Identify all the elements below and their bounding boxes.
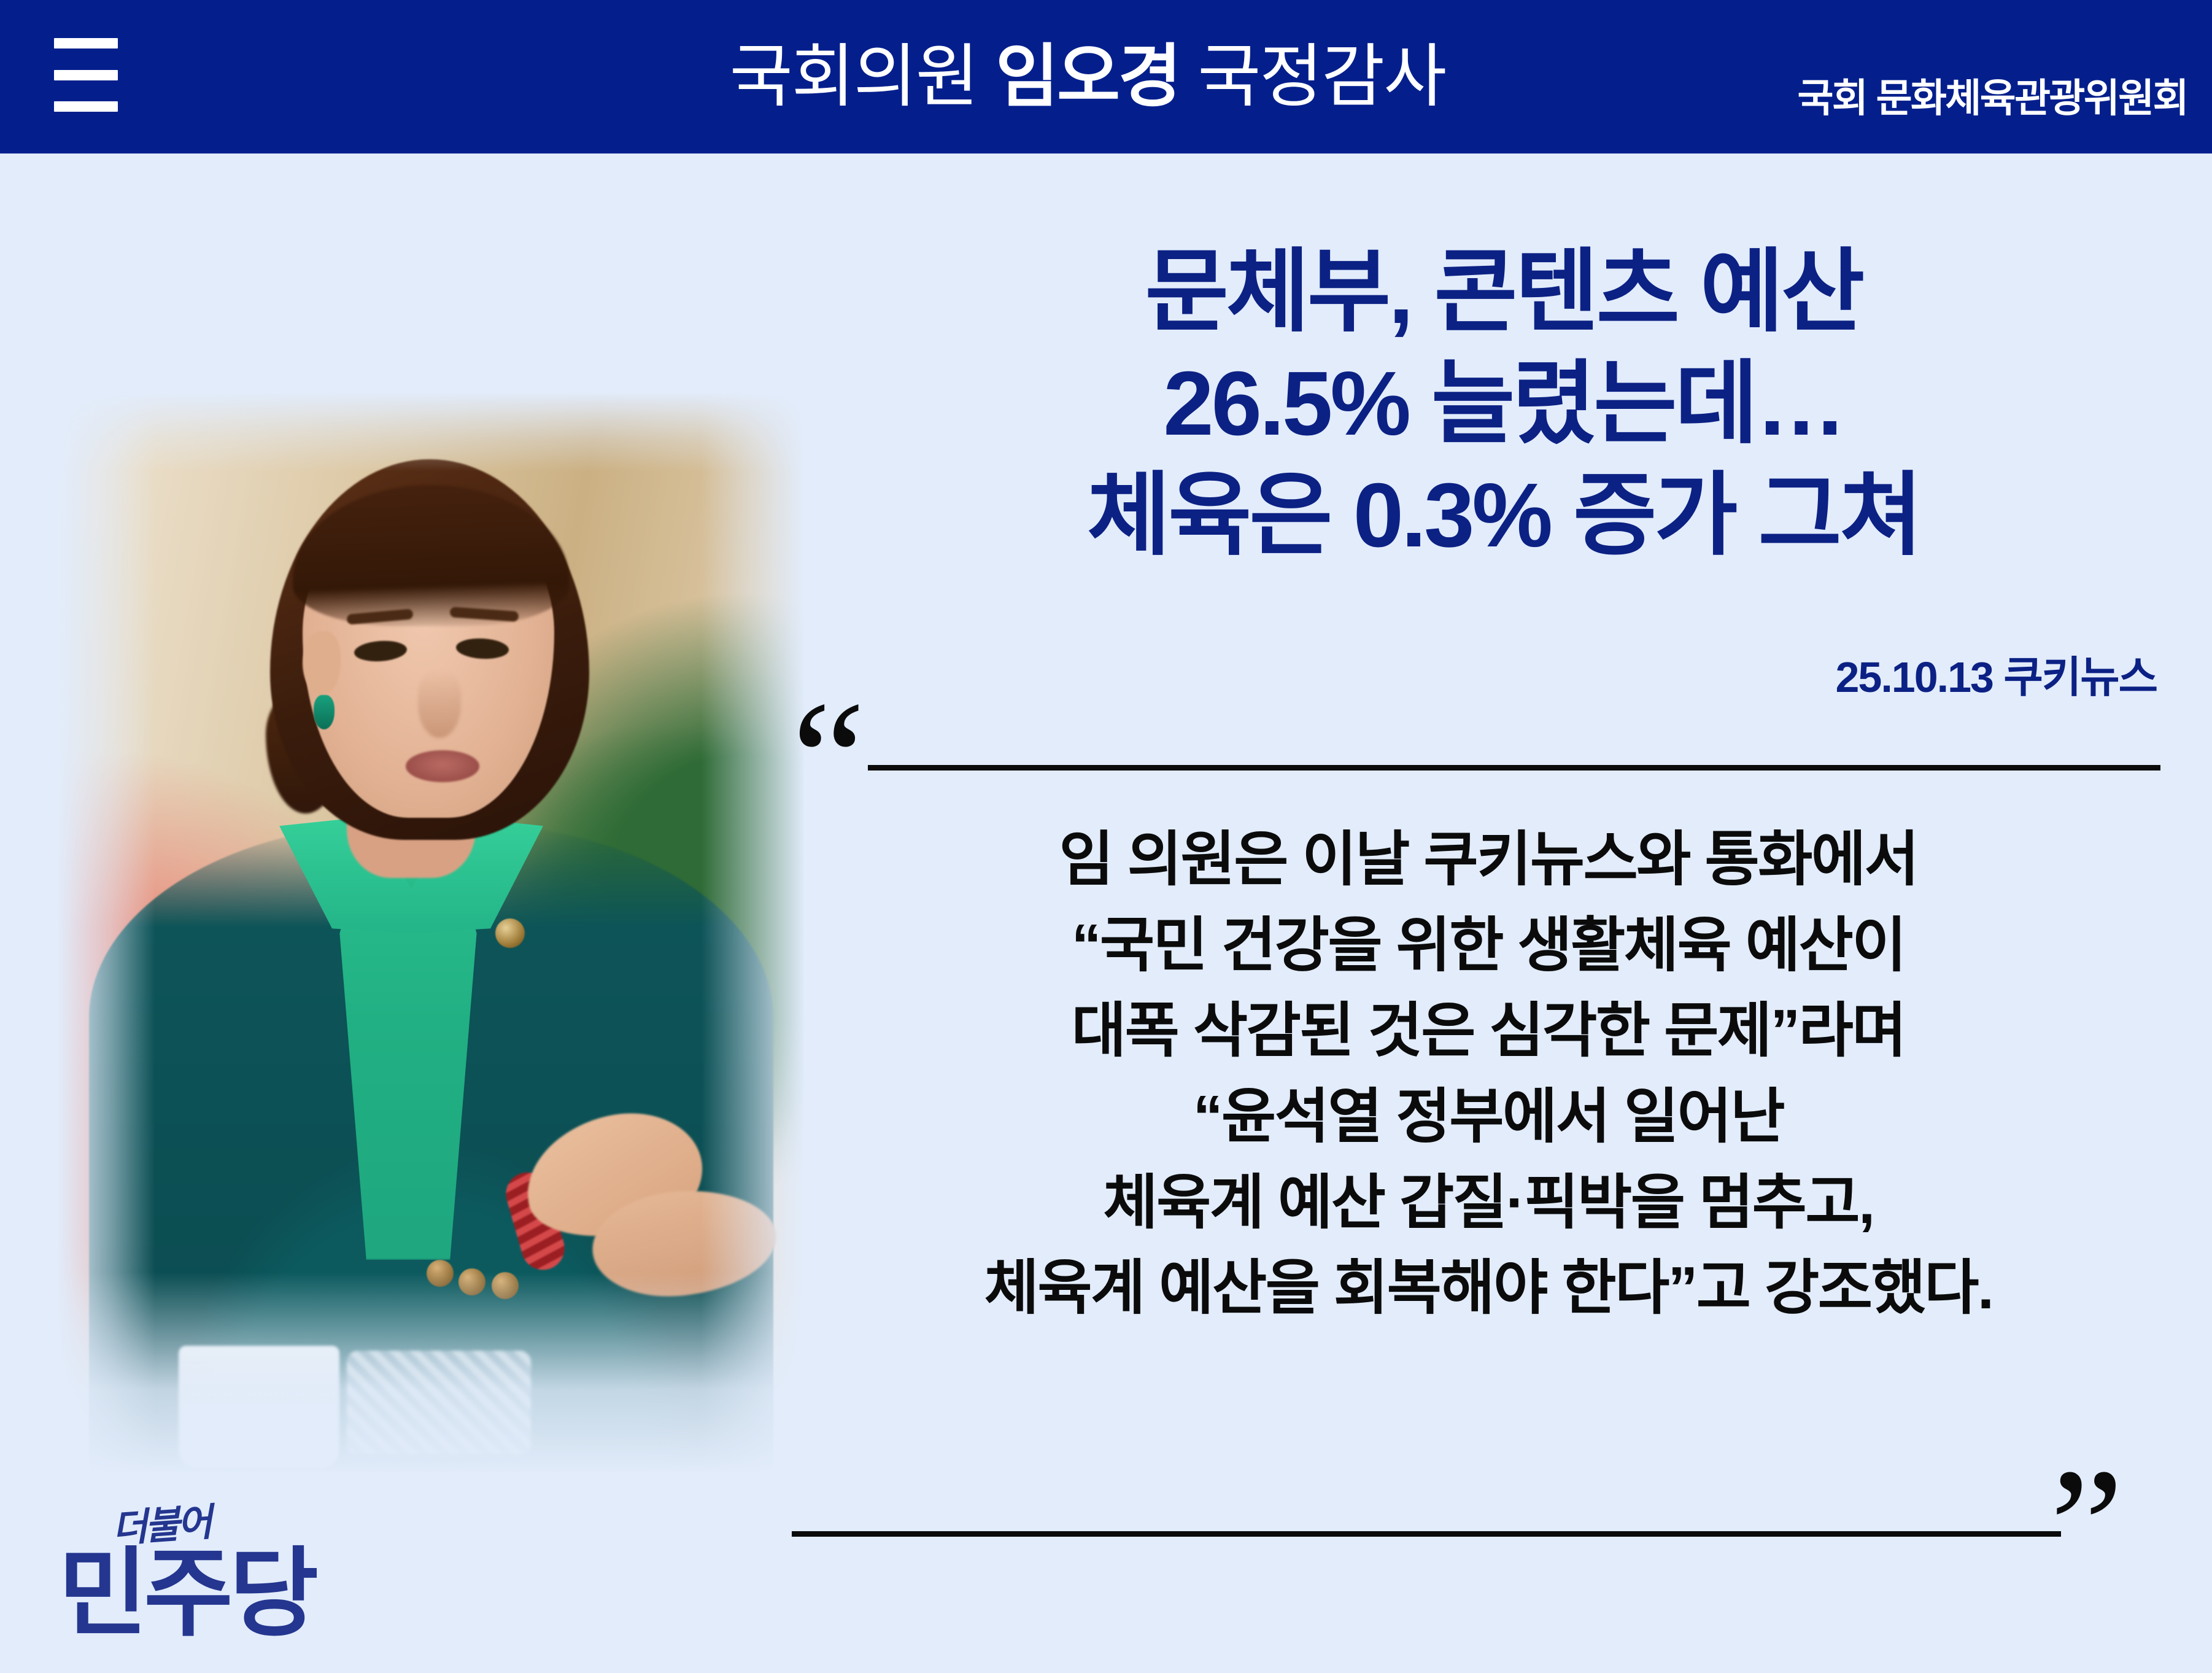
photo-ear (303, 631, 341, 695)
quote-bottom-divider: ” (792, 1516, 2173, 1596)
source-attribution: 25.10.13 쿠키뉴스 (1835, 656, 2157, 699)
portrait-photo-image (58, 393, 804, 1473)
quote-top-divider: “ (792, 724, 2160, 798)
quote-top-rule (868, 765, 2160, 771)
quote-bottom-rule (792, 1531, 2061, 1537)
photo-fade-top (58, 393, 804, 472)
quote-body: 임 의원은 이날 쿠키뉴스와 통화에서 “국민 건강을 위한 생활체육 예산이 … (816, 817, 2160, 1331)
party-logo: 더불어 민주당 (58, 1507, 365, 1661)
portrait-photo (58, 393, 804, 1473)
quote-line-6: 체육계 예산을 회복해야 한다”고 강조했다. (816, 1245, 2160, 1331)
quote-line-4: “윤석열 정부에서 일어난 (816, 1074, 2160, 1160)
header-title-suffix: 국정감사 (1197, 42, 1445, 111)
quote-line-5: 체육계 예산 갑질·픽박을 멈추고, (816, 1160, 2160, 1246)
header-title-space-2 (1180, 42, 1197, 111)
header-title-space-1 (978, 42, 996, 111)
photo-mouth (406, 750, 479, 782)
photo-nose (418, 670, 461, 738)
header-title-prefix: 국회의원 (730, 42, 978, 111)
photo-earring (314, 695, 335, 729)
quote-line-2: “국민 건강을 위한 생활체육 예산이 (816, 902, 2160, 988)
quote-line-3: 대폭 삭감된 것은 심각한 문제”라며 (816, 988, 2160, 1074)
headline-line-2: 26.5% 늘렸는데… (847, 348, 2160, 460)
headline-line-3: 체육은 0.3% 증가 그쳐 (847, 460, 2160, 572)
headline-line-1: 문체부, 콘텐츠 예산 (847, 236, 2160, 348)
photo-fade-bottom (58, 1272, 804, 1473)
header-bar: 국회의원 임오경 국정감사 국회 문화체육관광위원회 (0, 0, 2212, 153)
header-title-name: 임오경 (996, 42, 1180, 111)
quote-line-1: 임 의원은 이날 쿠키뉴스와 통화에서 (816, 817, 2160, 902)
headline: 문체부, 콘텐츠 예산 26.5% 늘렸는데… 체육은 0.3% 증가 그쳐 (847, 236, 2160, 572)
party-logo-name: 민주당 (58, 1545, 315, 1642)
header-committee-label: 국회 문화체육관광위원회 (1798, 79, 2187, 118)
quote-close-mark: ” (2050, 1444, 2117, 1610)
card-news-image: 국회의원 임오경 국정감사 국회 문화체육관광위원회 (0, 0, 2212, 1673)
photo-brooch (495, 918, 525, 948)
